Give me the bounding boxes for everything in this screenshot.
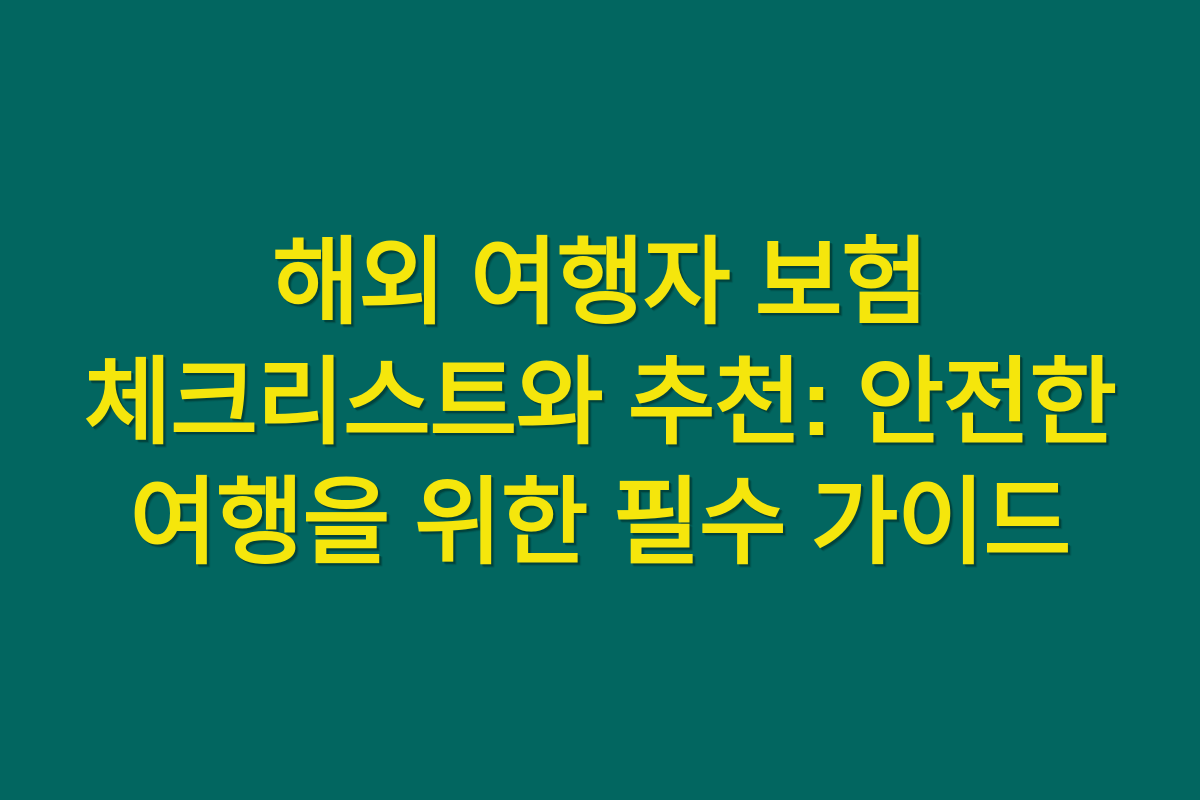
title-line-1: 해외 여행자 보험 <box>20 223 1180 343</box>
title-line-2: 체크리스트와 추천: 안전한 <box>20 343 1180 463</box>
title-line-3: 여행을 위한 필수 가이드 <box>20 463 1180 583</box>
page-title: 해외 여행자 보험 체크리스트와 추천: 안전한 여행을 위한 필수 가이드 <box>0 223 1200 583</box>
banner-canvas: 해외 여행자 보험 체크리스트와 추천: 안전한 여행을 위한 필수 가이드 <box>0 0 1200 800</box>
